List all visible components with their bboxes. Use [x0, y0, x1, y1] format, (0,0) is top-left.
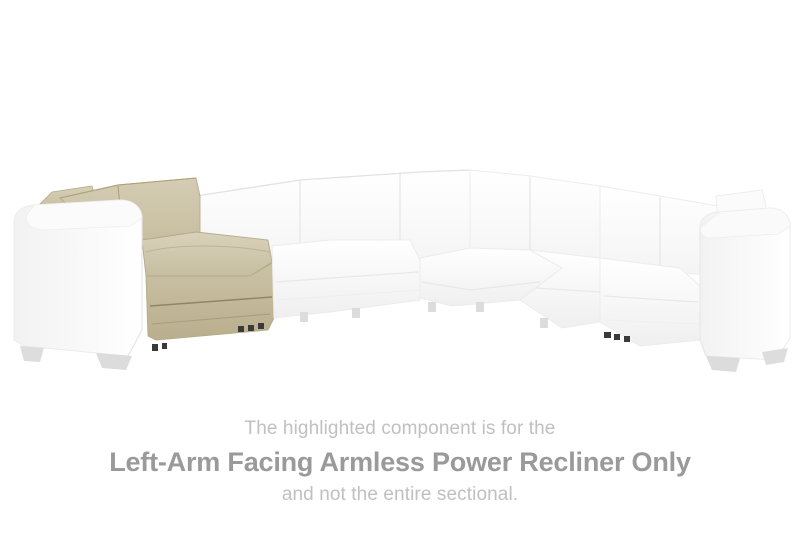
product-image: [0, 0, 800, 400]
armless-right-foot: [540, 318, 548, 328]
product-highlight-page: The highlighted component is for the Lef…: [0, 0, 800, 533]
recliner-foot-1: [238, 326, 244, 332]
caption-line-main: Left-Arm Facing Armless Power Recliner O…: [0, 443, 800, 481]
caption-line-top: The highlighted component is for the: [0, 415, 800, 443]
sectional-sofa-illustration: [0, 0, 800, 400]
recliner-foot-3: [258, 323, 264, 329]
raf-power-foot-3: [624, 336, 630, 342]
corner-foot-2: [476, 302, 484, 312]
armless-seat-cushion: [272, 240, 420, 318]
armless-chair-seat: [272, 240, 420, 322]
armless-foot-1: [300, 312, 308, 322]
raf-foot-front: [706, 356, 740, 372]
recliner-foot-5: [162, 343, 167, 349]
recliner-foot-4: [152, 344, 158, 351]
raf-power-foot-1: [604, 332, 611, 338]
left-arm-foot-rear: [20, 346, 44, 362]
recliner-foot-2: [248, 325, 254, 331]
corner-foot-1: [428, 302, 436, 312]
left-arm-panel: [14, 200, 142, 370]
caption-block: The highlighted component is for the Lef…: [0, 415, 800, 509]
raf-power-foot-2: [614, 334, 620, 340]
armless-foot-2: [352, 308, 360, 318]
caption-line-bottom: and not the entire sectional.: [0, 481, 800, 509]
left-arm-top-face: [26, 200, 142, 230]
